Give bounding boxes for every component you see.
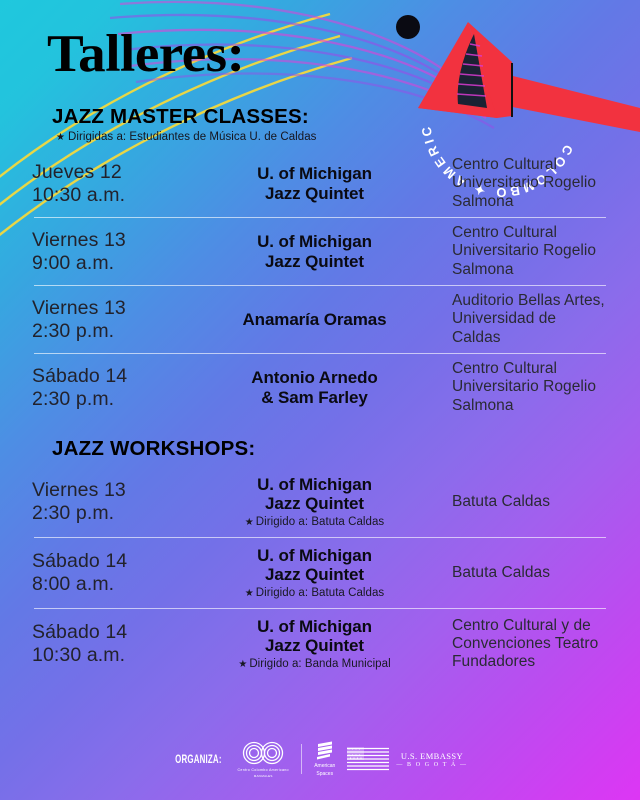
page-title: Talleres:: [47, 28, 244, 81]
embassy-city: — B O G O T Á —: [396, 762, 467, 768]
row-note-text: Dirigido a: Batuta Caldas: [256, 516, 384, 528]
row-time: 10:30 a.m.: [32, 644, 207, 667]
poster-header: Talleres: JAZZ MASTER CLASSES: ★Dirigida…: [0, 0, 640, 150]
logo-american-spaces[interactable]: American Spaces: [314, 740, 335, 778]
row-activity-line1: U. of Michigan: [207, 546, 422, 565]
row-time: 9:00 a.m.: [32, 252, 207, 275]
embassy-name: U.S. EMBASSY: [401, 751, 463, 761]
row-day: Sábado 14: [32, 621, 207, 644]
row-activity: U. of Michigan Jazz Quintet ★Dirigido a:…: [207, 546, 422, 601]
row-activity-line1: U. of Michigan: [207, 232, 422, 251]
table-row[interactable]: Viernes 13 2:30 p.m. Anamaría Oramas Aud…: [0, 286, 640, 353]
row-day: Viernes 13: [32, 479, 207, 502]
row-datetime: Sábado 14 2:30 p.m.: [32, 365, 207, 410]
row-venue: Centro Cultural Universitario Rogelio Sa…: [422, 224, 608, 279]
section-subtitle-master-classes: ★Dirigidas a: Estudiantes de Música U. d…: [56, 131, 316, 143]
row-datetime: Jueves 12 10:30 a.m.: [32, 161, 207, 206]
row-note-text: Dirigido a: Banda Municipal: [249, 658, 390, 670]
row-venue: Batuta Caldas: [422, 564, 608, 582]
row-venue: Batuta Caldas: [422, 493, 608, 511]
row-day: Viernes 13: [32, 229, 207, 252]
table-row[interactable]: Jueves 12 10:30 a.m. U. of Michigan Jazz…: [0, 150, 640, 217]
american-spaces-logo-icon: [315, 740, 335, 762]
row-activity-line1: U. of Michigan: [207, 475, 422, 494]
row-day: Jueves 12: [32, 161, 207, 184]
star-icon: ★: [245, 517, 254, 528]
row-activity: U. of Michigan Jazz Quintet ★Dirigido a:…: [207, 617, 422, 672]
row-activity-line2: Jazz Quintet: [207, 184, 422, 203]
us-flag-icon: [347, 747, 389, 771]
logo-as-line1: American: [314, 764, 335, 770]
embassy-wordmark: U.S. EMBASSY — B O G O T Á —: [396, 751, 467, 768]
row-day: Sábado 14: [32, 550, 207, 573]
row-day: Sábado 14: [32, 365, 207, 388]
row-activity-line1: U. of Michigan: [207, 164, 422, 183]
row-venue: Centro Cultural Universitario Rogelio Sa…: [422, 360, 608, 415]
row-time: 2:30 p.m.: [32, 502, 207, 525]
logo-cca-name: Centro Colombo Americano: [238, 768, 289, 772]
row-note: ★Dirigido a: Banda Municipal: [207, 658, 422, 671]
section-heading-workshops: JAZZ WORKSHOPS:: [52, 437, 640, 461]
row-venue: Centro Cultural y de Convenciones Teatro…: [422, 617, 608, 672]
row-datetime: Sábado 14 10:30 a.m.: [32, 621, 207, 666]
row-activity-line2: & Sam Farley: [207, 388, 422, 407]
section-subtitle-text: Dirigidas a: Estudiantes de Música U. de…: [68, 131, 316, 143]
row-activity-line2: Jazz Quintet: [207, 252, 422, 271]
star-icon: ★: [56, 132, 65, 143]
schedule-table: Jueves 12 10:30 a.m. U. of Michigan Jazz…: [0, 150, 640, 679]
row-activity-line1: Anamaría Oramas: [207, 310, 422, 329]
row-activity-line1: U. of Michigan: [207, 617, 422, 636]
logo-centro-colombo-americano[interactable]: Centro Colombo Americano MANIZALES: [237, 740, 289, 778]
star-icon: ★: [245, 588, 254, 599]
footer-divider: [301, 744, 302, 774]
row-day: Viernes 13: [32, 297, 207, 320]
row-datetime: Viernes 13 9:00 a.m.: [32, 229, 207, 274]
row-activity: Antonio Arnedo & Sam Farley: [207, 368, 422, 407]
logo-cca-sub: MANIZALES: [254, 774, 273, 778]
table-row[interactable]: Sábado 14 2:30 p.m. Antonio Arnedo & Sam…: [0, 354, 640, 421]
row-note: ★Dirigido a: Batuta Caldas: [207, 587, 422, 600]
section-heading-master-classes: JAZZ MASTER CLASSES:: [52, 105, 309, 129]
table-row[interactable]: Sábado 14 8:00 a.m. U. of Michigan Jazz …: [0, 538, 640, 608]
table-row[interactable]: Viernes 13 9:00 a.m. U. of Michigan Jazz…: [0, 218, 640, 285]
logo-us-embassy[interactable]: U.S. EMBASSY — B O G O T Á —: [347, 747, 467, 771]
row-time: 2:30 p.m.: [32, 320, 207, 343]
organiza-label: ORGANIZA:: [176, 752, 222, 766]
row-time: 2:30 p.m.: [32, 388, 207, 411]
logo-as-line2: Spaces: [316, 772, 333, 778]
row-activity-line2: Jazz Quintet: [207, 565, 422, 584]
row-time: 8:00 a.m.: [32, 573, 207, 596]
row-note-text: Dirigido a: Batuta Caldas: [256, 587, 384, 599]
row-activity: U. of Michigan Jazz Quintet: [207, 232, 422, 271]
row-activity-line2: Jazz Quintet: [207, 494, 422, 513]
row-datetime: Sábado 14 8:00 a.m.: [32, 550, 207, 595]
row-note: ★Dirigido a: Batuta Caldas: [207, 516, 422, 529]
row-venue: Auditorio Bellas Artes, Universidad de C…: [422, 292, 608, 347]
colombo-americano-logo-icon: [237, 740, 289, 766]
table-row[interactable]: Viernes 13 2:30 p.m. U. of Michigan Jazz…: [0, 467, 640, 537]
row-activity: Anamaría Oramas: [207, 310, 422, 329]
row-venue: Centro Cultural Universitario Rogelio Sa…: [422, 156, 608, 211]
row-activity-line2: Jazz Quintet: [207, 636, 422, 655]
row-activity: U. of Michigan Jazz Quintet: [207, 164, 422, 203]
row-datetime: Viernes 13 2:30 p.m.: [32, 297, 207, 342]
row-activity: U. of Michigan Jazz Quintet ★Dirigido a:…: [207, 475, 422, 530]
row-time: 10:30 a.m.: [32, 184, 207, 207]
star-icon: ★: [238, 659, 247, 670]
row-datetime: Viernes 13 2:30 p.m.: [32, 479, 207, 524]
footer-sponsors: ORGANIZA: Centro Colombo Americano MANIZ…: [0, 740, 640, 778]
table-row[interactable]: Sábado 14 10:30 a.m. U. of Michigan Jazz…: [0, 609, 640, 679]
row-activity-line1: Antonio Arnedo: [207, 368, 422, 387]
